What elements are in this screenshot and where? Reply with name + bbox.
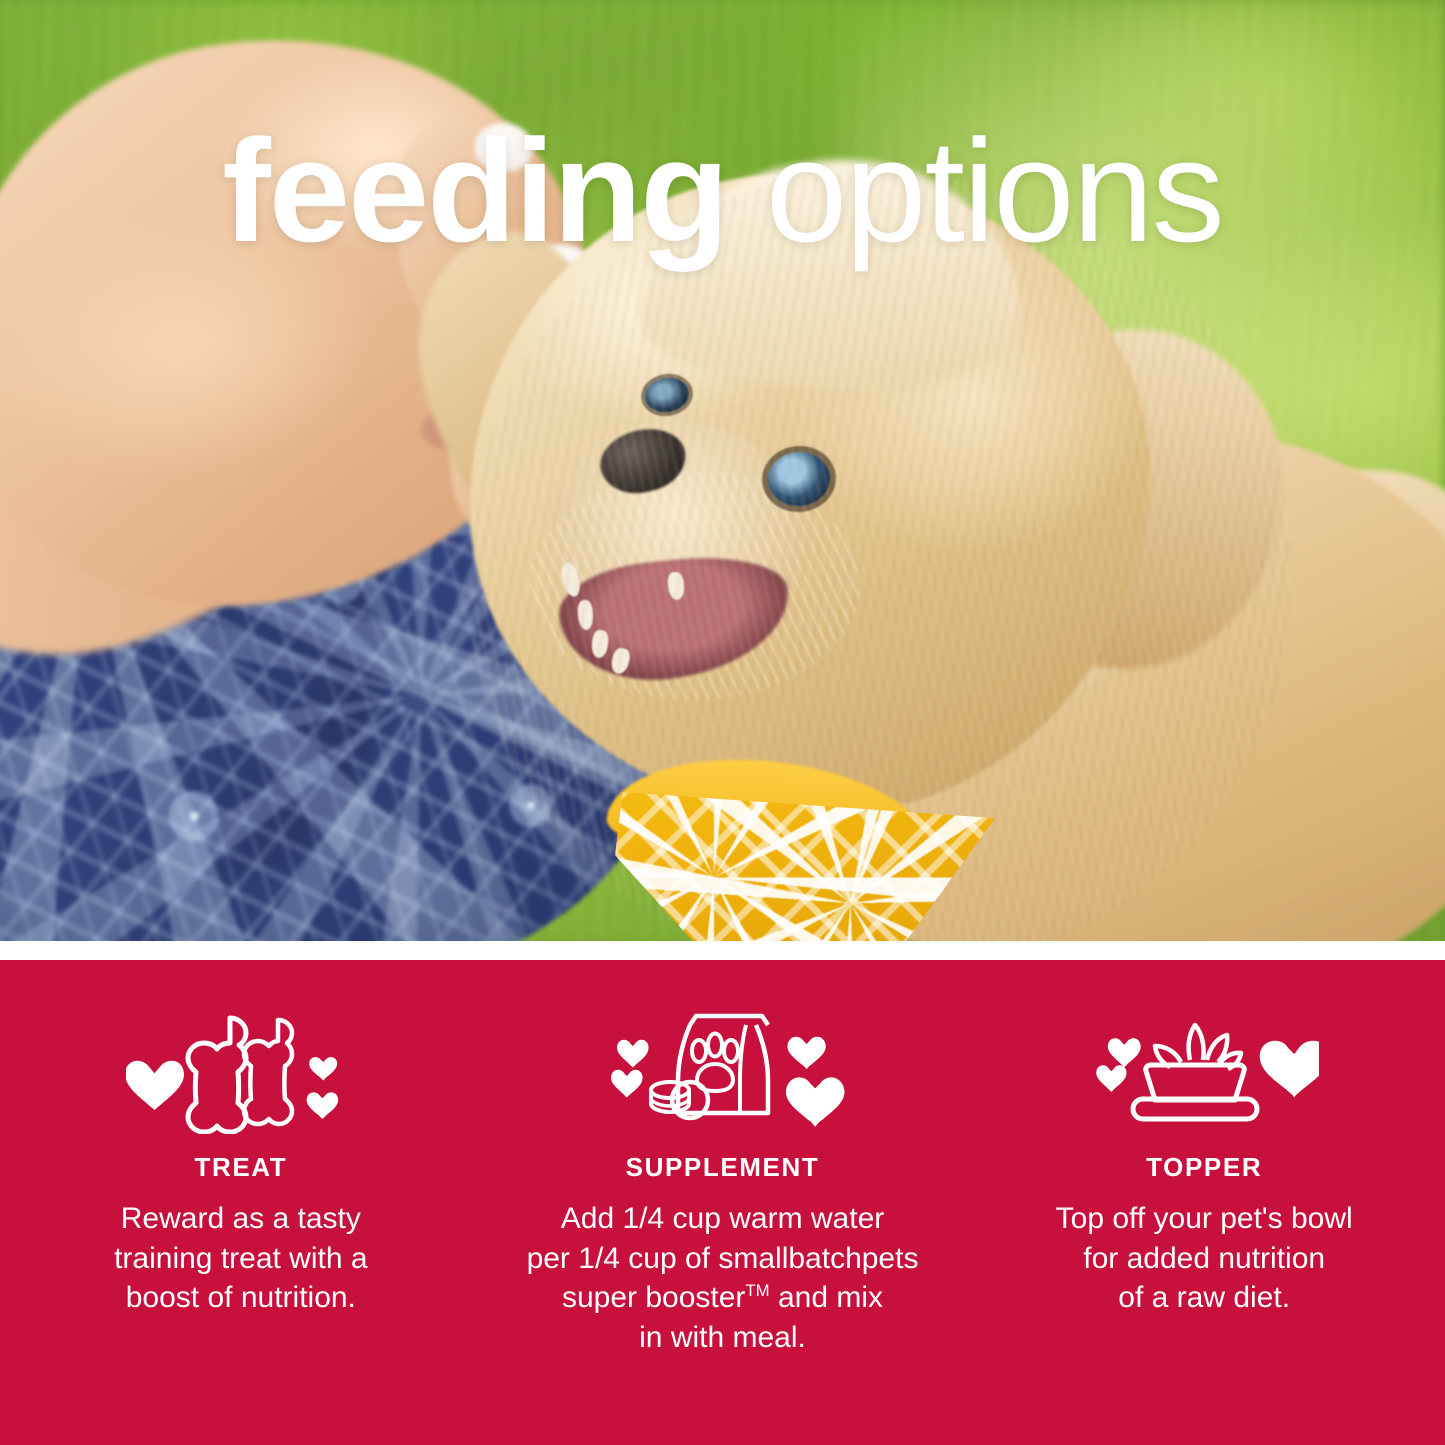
option-description-treat: Reward as a tasty training treat with a … bbox=[114, 1199, 367, 1318]
option-label-topper: TOPPER bbox=[1146, 1152, 1262, 1183]
feeding-option-supplement: SUPPLEMENT Add 1/4 cup warm waterper 1/4… bbox=[482, 960, 964, 1445]
supplement-line-2: per 1/4 cup of smallbatchpets bbox=[527, 1242, 919, 1275]
option-description-topper: Top off your pet's bowl for added nutrit… bbox=[1056, 1199, 1353, 1318]
option-description-supplement: Add 1/4 cup warm waterper 1/4 cup of sma… bbox=[527, 1199, 919, 1357]
title-word-options: options bbox=[766, 109, 1223, 272]
page-title: feeding options bbox=[0, 118, 1445, 264]
supplement-line-3b: and mix bbox=[770, 1281, 883, 1314]
trademark-symbol: TM bbox=[745, 1281, 769, 1300]
food-bowl-topper-icon bbox=[1089, 1006, 1319, 1134]
feeding-options-graphic: feeding options bbox=[0, 0, 1445, 1445]
supplement-bag-icon bbox=[598, 1006, 848, 1134]
feeding-options-panel: TREAT Reward as a tasty training treat w… bbox=[0, 960, 1445, 1445]
hero-photo: feeding options bbox=[0, 0, 1445, 941]
supplement-line-1: Add 1/4 cup warm water bbox=[561, 1202, 884, 1235]
dog-bone-treat-icon bbox=[126, 1006, 356, 1134]
option-label-supplement: SUPPLEMENT bbox=[626, 1152, 820, 1183]
supplement-line-3a: super booster bbox=[562, 1281, 745, 1314]
title-word-feeding: feeding bbox=[222, 109, 727, 272]
feeding-options-columns: TREAT Reward as a tasty training treat w… bbox=[0, 960, 1445, 1445]
option-label-treat: TREAT bbox=[194, 1152, 287, 1183]
feeding-option-treat: TREAT Reward as a tasty training treat w… bbox=[0, 960, 482, 1445]
feeding-option-topper: TOPPER Top off your pet's bowl for added… bbox=[963, 960, 1445, 1445]
supplement-line-4: in with meal. bbox=[639, 1321, 806, 1354]
